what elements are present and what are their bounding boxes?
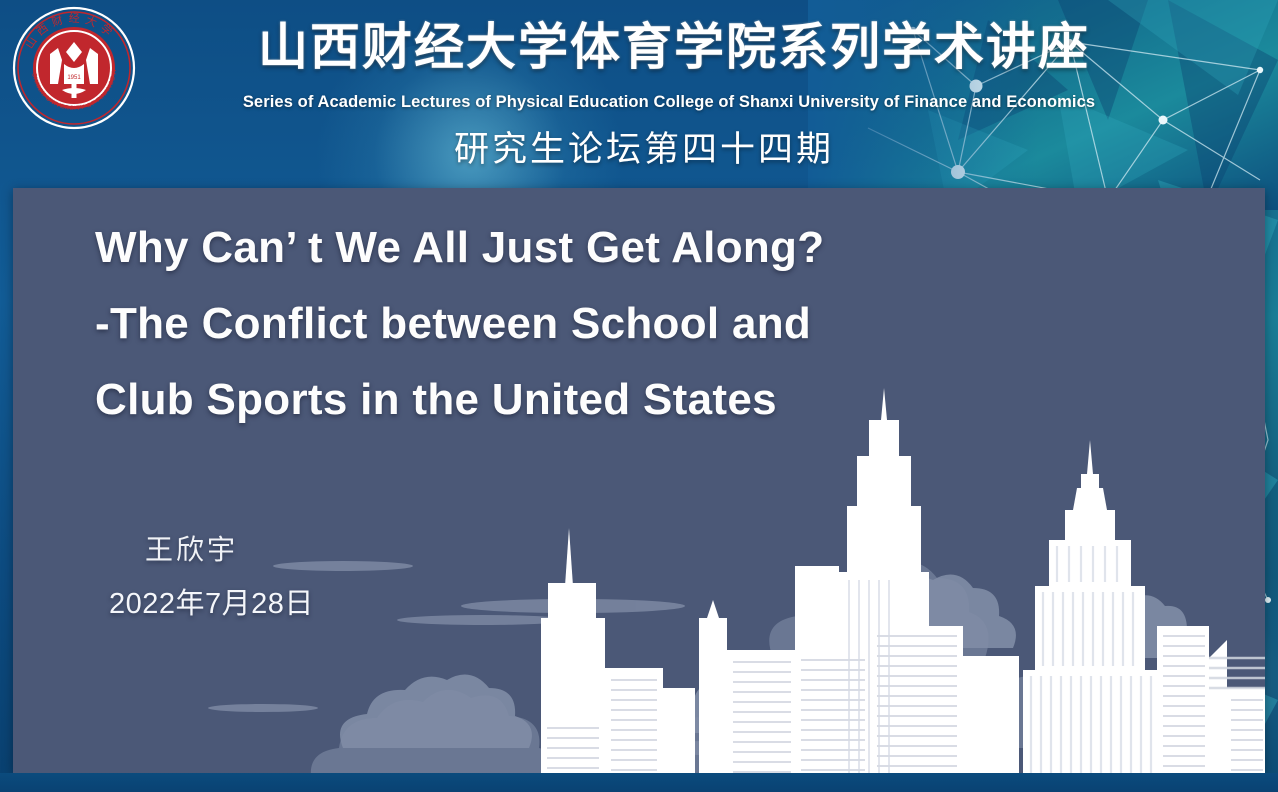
slide-panel[interactable]: Why Can’ t We All Just Get Along? -The C… bbox=[13, 188, 1265, 773]
presentation-date: 2022年7月28日 bbox=[109, 580, 314, 622]
footer-strip bbox=[0, 773, 1278, 792]
slide-title: Why Can’ t We All Just Get Along? -The C… bbox=[95, 210, 1045, 438]
slide-title-line-1: Why Can’ t We All Just Get Along? bbox=[95, 210, 1045, 286]
presenter-name: 王欣宇 bbox=[145, 528, 238, 568]
forum-session-label: 研究生论坛第四十四期 bbox=[0, 132, 1278, 167]
header: 1951 山西财经大学 SHANXI UNIVERSITY OF FINANCE… bbox=[0, 0, 1278, 186]
slide-title-line-2: -The Conflict between School and bbox=[95, 286, 1045, 362]
page-subtitle-english: Series of Academic Lectures of Physical … bbox=[0, 93, 1278, 112]
slide-title-line-3: Club Sports in the United States bbox=[95, 362, 1045, 438]
page-title: 山西财经大学体育学院系列学术讲座 bbox=[0, 22, 1278, 72]
presentation-screenshot: 1951 山西财经大学 SHANXI UNIVERSITY OF FINANCE… bbox=[0, 0, 1278, 792]
slide-text-layer: Why Can’ t We All Just Get Along? -The C… bbox=[13, 188, 1265, 773]
logo-year: 1951 bbox=[67, 75, 81, 81]
